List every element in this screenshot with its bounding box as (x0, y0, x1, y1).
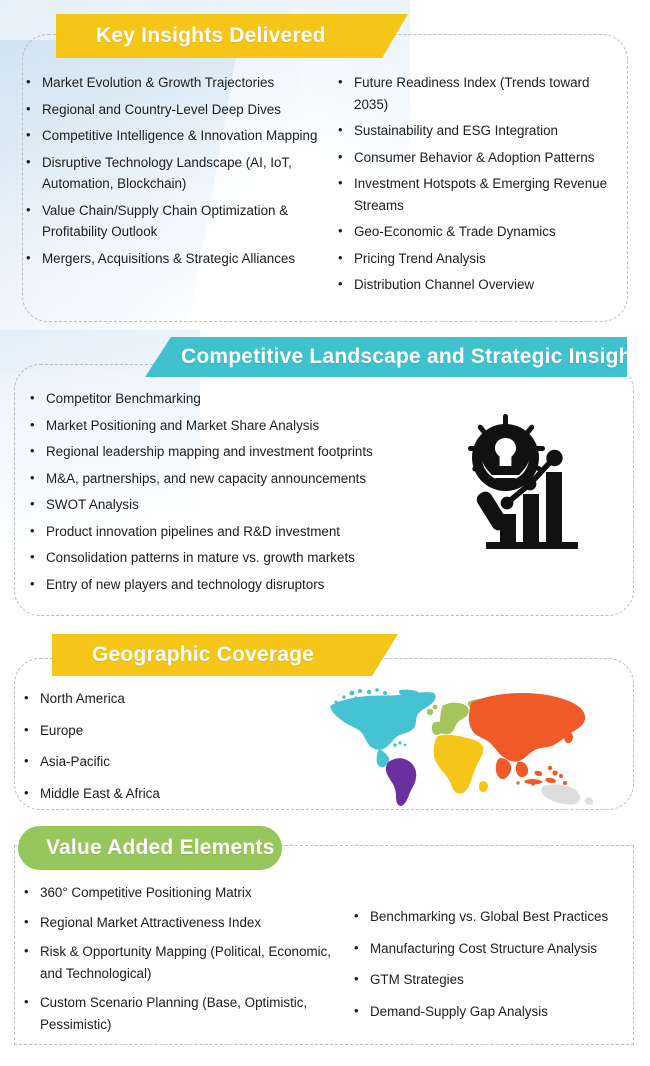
list-item: Competitive Intelligence & Innovation Ma… (24, 125, 336, 147)
list-item: Future Readiness Index (Trends toward 20… (336, 72, 626, 115)
list-item-text: Entry of new players and technology disr… (46, 577, 324, 592)
list-item-text: Sustainability and ESG Integration (354, 123, 558, 138)
list-item-text: Disruptive Technology Landscape (AI, IoT… (42, 155, 292, 192)
list-item: Sustainability and ESG Integration (336, 120, 626, 142)
list-item: Market Positioning and Market Share Anal… (28, 415, 458, 437)
list-item: Consumer Behavior & Adoption Patterns (336, 147, 626, 169)
key-insights-lists: Market Evolution & Growth Trajectories R… (24, 72, 628, 301)
list-item-text: North America (40, 691, 125, 706)
list-item: Investment Hotspots & Emerging Revenue S… (336, 173, 626, 216)
list-item-text: Competitive Intelligence & Innovation Ma… (42, 128, 317, 143)
geographic-coverage-lists: North America Europe Asia-Pacific Middle… (22, 688, 322, 814)
section-title-competitive-landscape: Competitive Landscape and Strategic Insi… (181, 345, 650, 369)
list-item-text: GTM Strategies (370, 972, 464, 987)
list-item: Disruptive Technology Landscape (AI, IoT… (24, 152, 336, 195)
list-item: Product innovation pipelines and R&D inv… (28, 521, 458, 543)
list-item: North America (22, 688, 322, 710)
list-item-text: 360° Competitive Positioning Matrix (40, 885, 252, 900)
list-item-text: Future Readiness Index (Trends toward 20… (354, 75, 589, 112)
geographic-coverage-left-list: North America Europe Asia-Pacific Middle… (22, 688, 322, 814)
key-insights-left-list: Market Evolution & Growth Trajectories R… (24, 72, 336, 301)
list-item: Manufacturing Cost Structure Analysis (352, 938, 634, 960)
list-item-text: Custom Scenario Planning (Base, Optimist… (40, 995, 307, 1032)
list-item: Consolidation patterns in mature vs. gro… (28, 547, 458, 569)
list-item: SWOT Analysis (28, 494, 458, 516)
list-item-text: Mergers, Acquisitions & Strategic Allian… (42, 251, 295, 266)
list-item-text: Market Evolution & Growth Trajectories (42, 75, 274, 90)
value-added-right-list: Benchmarking vs. Global Best Practices M… (352, 882, 634, 1043)
list-item-text: Investment Hotspots & Emerging Revenue S… (354, 176, 607, 213)
list-item: M&A, partnerships, and new capacity anno… (28, 468, 458, 490)
list-item-text: Competitor Benchmarking (46, 391, 201, 406)
list-item: Competitor Benchmarking (28, 388, 458, 410)
section-banner-key-insights: Key Insights Delivered (56, 14, 408, 58)
list-item-text: Demand-Supply Gap Analysis (370, 1004, 548, 1019)
list-item: GTM Strategies (352, 969, 634, 991)
list-item: Regional leadership mapping and investme… (28, 441, 458, 463)
list-item-text: Distribution Channel Overview (354, 277, 534, 292)
list-item-text: Consumer Behavior & Adoption Patterns (354, 150, 594, 165)
list-item-text: Benchmarking vs. Global Best Practices (370, 909, 608, 924)
value-added-lists: 360° Competitive Positioning Matrix Regi… (22, 882, 634, 1043)
competitive-landscape-lists: Competitor Benchmarking Market Positioni… (28, 388, 458, 600)
list-item: Middle East & Africa (22, 783, 322, 805)
list-item-text: Market Positioning and Market Share Anal… (46, 418, 319, 433)
list-item-text: Consolidation patterns in mature vs. gro… (46, 550, 355, 565)
section-banner-geographic-coverage: Geographic Coverage (52, 634, 398, 676)
list-item-text: Geo-Economic & Trade Dynamics (354, 224, 556, 239)
section-title-key-insights: Key Insights Delivered (96, 24, 326, 48)
list-item-text: SWOT Analysis (46, 497, 139, 512)
list-item-text: Regional and Country-Level Deep Dives (42, 102, 281, 117)
list-item-text: Product innovation pipelines and R&D inv… (46, 524, 340, 539)
list-item: Geo-Economic & Trade Dynamics (336, 221, 626, 243)
key-insights-right-list: Future Readiness Index (Trends toward 20… (336, 72, 626, 301)
infographic-page: Key Insights Delivered Market Evolution … (0, 0, 650, 1066)
magnifier-lightbulb-bar-chart-icon (462, 408, 588, 556)
list-item: Value Chain/Supply Chain Optimization & … (24, 200, 336, 243)
competitive-landscape-left-list: Competitor Benchmarking Market Positioni… (28, 388, 458, 600)
list-item-text: Europe (40, 723, 83, 738)
list-item: Benchmarking vs. Global Best Practices (352, 906, 634, 928)
list-item: Regional and Country-Level Deep Dives (24, 99, 336, 121)
list-item: Risk & Opportunity Mapping (Political, E… (22, 941, 352, 984)
list-item: Market Evolution & Growth Trajectories (24, 72, 336, 94)
section-title-value-added-elements: Value Added Elements (46, 836, 274, 860)
list-item: Europe (22, 720, 322, 742)
list-item-text: M&A, partnerships, and new capacity anno… (46, 471, 366, 486)
list-item-text: Regional leadership mapping and investme… (46, 444, 373, 459)
list-item-text: Manufacturing Cost Structure Analysis (370, 941, 597, 956)
section-title-geographic-coverage: Geographic Coverage (92, 643, 314, 667)
list-item-text: Value Chain/Supply Chain Optimization & … (42, 203, 288, 240)
value-added-left-list: 360° Competitive Positioning Matrix Regi… (22, 882, 352, 1043)
list-item-text: Regional Market Attractiveness Index (40, 915, 261, 930)
list-item-text: Asia-Pacific (40, 754, 110, 769)
section-banner-value-added-elements: Value Added Elements (18, 826, 282, 870)
list-item-text: Middle East & Africa (40, 786, 160, 801)
list-item-text: Pricing Trend Analysis (354, 251, 486, 266)
list-item: Demand-Supply Gap Analysis (352, 1001, 634, 1023)
list-item: Asia-Pacific (22, 751, 322, 773)
list-item: Mergers, Acquisitions & Strategic Allian… (24, 248, 336, 270)
list-item: Distribution Channel Overview (336, 274, 626, 296)
list-item-text: Risk & Opportunity Mapping (Political, E… (40, 944, 331, 981)
list-item: 360° Competitive Positioning Matrix (22, 882, 352, 904)
list-item: Regional Market Attractiveness Index (22, 912, 352, 934)
list-item: Custom Scenario Planning (Base, Optimist… (22, 992, 352, 1035)
list-item: Entry of new players and technology disr… (28, 574, 458, 596)
section-banner-competitive-landscape: Competitive Landscape and Strategic Insi… (145, 337, 627, 377)
world-map-icon (322, 688, 602, 806)
list-item: Pricing Trend Analysis (336, 248, 626, 270)
